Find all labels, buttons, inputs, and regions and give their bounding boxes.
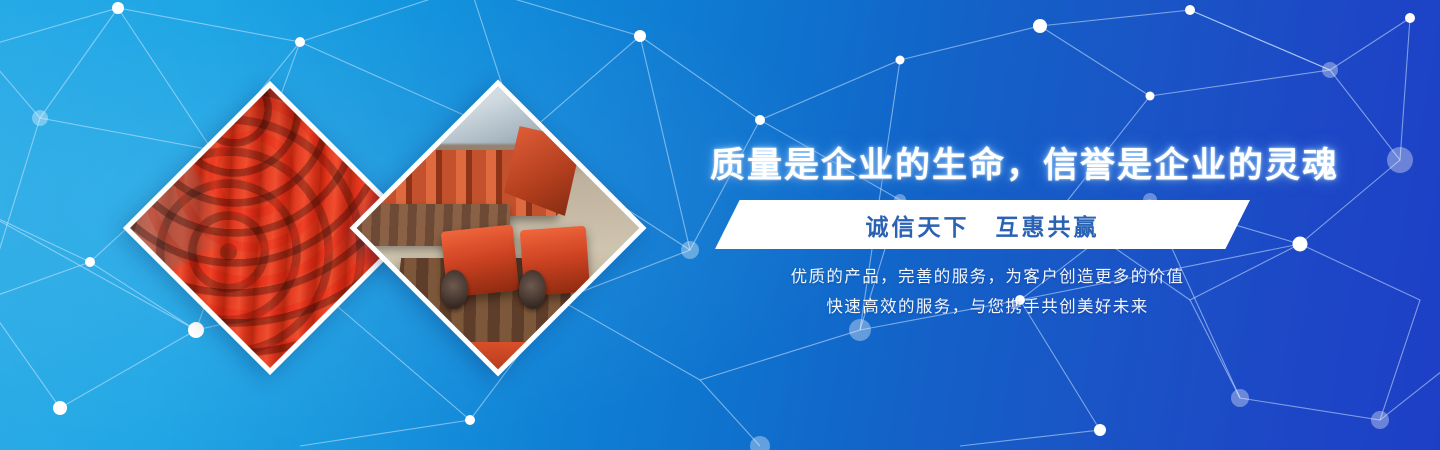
promo-banner: 质量是企业的生命，信誉是企业的灵魂 诚信天下 互惠共赢 优质的产品，完善的服务，…	[0, 0, 1440, 450]
subcopy-line-2: 快速高效的服务，与您携手共创美好未来	[700, 292, 1275, 322]
slogan-bar: 诚信天下 互惠共赢	[715, 200, 1250, 249]
flange-right	[519, 270, 546, 309]
slogan-text: 诚信天下 互惠共赢	[715, 200, 1250, 249]
subcopy-line-1: 优质的产品，完善的服务，为客户创造更多的价值	[700, 262, 1275, 292]
banner-headline: 质量是企业的生命，信誉是企业的灵魂	[710, 137, 1262, 188]
banner-subcopy: 优质的产品，完善的服务，为客户创造更多的价值 快速高效的服务，与您携手共创美好未…	[700, 262, 1275, 322]
flange-left	[441, 270, 468, 309]
